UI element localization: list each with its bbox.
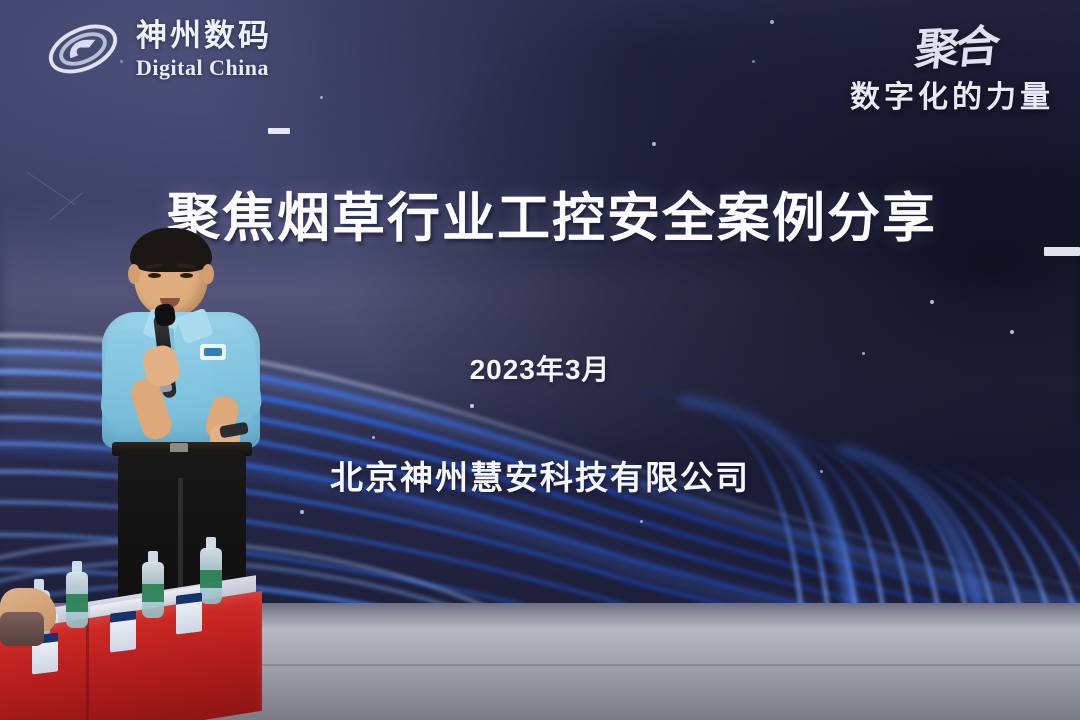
event-slogan: 聚合 数字化的力量 [850, 12, 1054, 116]
attendee-sleeve [0, 612, 44, 646]
water-bottle [200, 548, 222, 604]
brand-logo-text: 神州数码 Digital China [136, 20, 272, 79]
stage-floor-seam [260, 664, 1080, 666]
brand-logo: 神州数码 Digital China [44, 18, 272, 80]
speaker-eye-left [148, 273, 161, 278]
speaker-hair [130, 228, 212, 272]
brand-name-en: Digital China [136, 57, 272, 79]
name-card [176, 592, 202, 634]
screen-light-bar [268, 128, 290, 134]
name-card [110, 610, 136, 652]
speaker-ear-right [202, 264, 214, 284]
slogan-brush-text: 聚合 [912, 10, 999, 78]
brand-name-cn: 神州数码 [136, 20, 272, 51]
speaker-eye-right [180, 273, 193, 278]
water-bottle [142, 562, 164, 618]
stage-photo: 神州数码 Digital China 聚合 数字化的力量 聚焦烟草行业工控安全案… [0, 0, 1080, 720]
swoosh-ellipse-icon [44, 18, 122, 80]
water-bottle [66, 572, 88, 628]
speaker-shirt-logo [200, 344, 226, 360]
logo-glyph [70, 40, 95, 59]
slogan-sub-text: 数字化的力量 [850, 72, 1054, 116]
microphone-head [154, 303, 177, 327]
speaker-ear-left [128, 264, 140, 284]
